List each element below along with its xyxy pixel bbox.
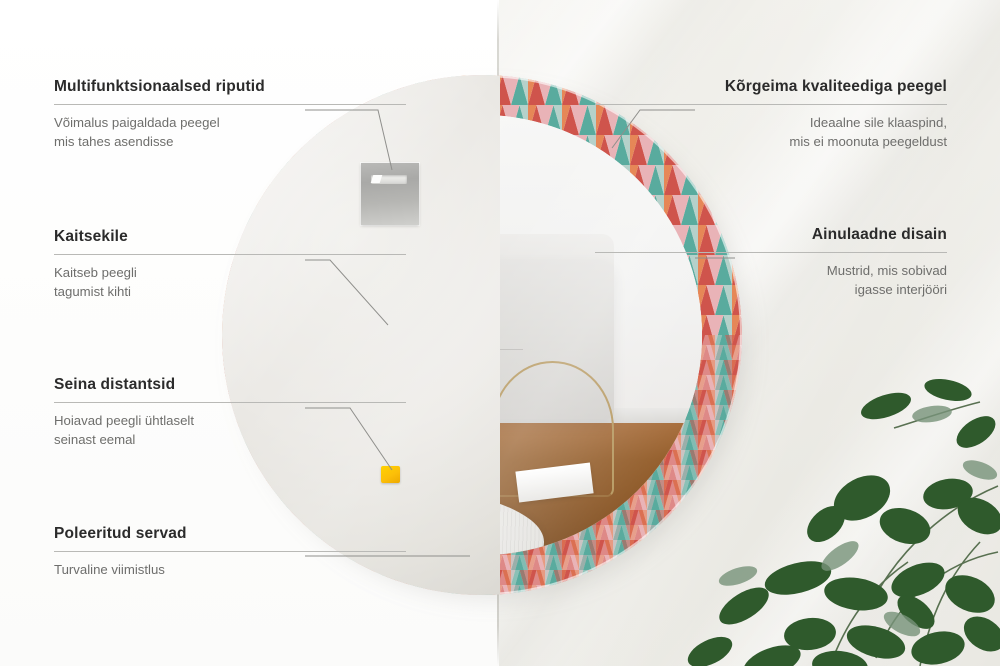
callout-description: Võimalus paigaldada peegel mis tahes ase… bbox=[54, 114, 406, 151]
wall-spacer bbox=[381, 466, 400, 483]
callout-rule bbox=[54, 254, 406, 255]
keyhole-slot-icon bbox=[371, 175, 407, 184]
callout-wall-spacers: Seina distantsid Hoiavad peegli ühtlasel… bbox=[54, 376, 406, 449]
callout-description: Turvaline viimistlus bbox=[54, 561, 406, 580]
callout-description: Mustrid, mis sobivad igasse interjööri bbox=[595, 262, 947, 299]
callout-multifunction-hangers: Multifunktsionaalsed riputid Võimalus pa… bbox=[54, 78, 406, 151]
callout-description: Kaitseb peegli tagumist kihti bbox=[54, 264, 406, 301]
mirror-body bbox=[222, 75, 742, 595]
keyhole-hanger-plate bbox=[361, 163, 419, 225]
mirror-back-cover-left bbox=[222, 75, 500, 595]
callout-title: Seina distantsid bbox=[54, 376, 406, 394]
callout-description: Hoiavad peegli ühtlaselt seinast eemal bbox=[54, 412, 406, 449]
callout-unique-design: Ainulaadne disain Mustrid, mis sobivad i… bbox=[595, 226, 947, 299]
callout-protective-film: Kaitsekile Kaitseb peegli tagumist kihti bbox=[54, 228, 406, 301]
callout-rule bbox=[54, 551, 406, 552]
callout-title: Kaitsekile bbox=[54, 228, 406, 246]
callout-polished-edges: Poleeritud servad Turvaline viimistlus bbox=[54, 525, 406, 580]
callout-highest-quality-mirror: Kõrgeima kvaliteediga peegel Ideaalne si… bbox=[595, 78, 947, 151]
callout-title: Kõrgeima kvaliteediga peegel bbox=[595, 78, 947, 96]
callout-description: Ideaalne sile klaaspind, mis ei moonuta … bbox=[595, 114, 947, 151]
decorative-plant bbox=[680, 366, 1000, 666]
callout-rule bbox=[595, 252, 947, 253]
callout-title: Multifunktsionaalsed riputid bbox=[54, 78, 406, 96]
callout-rule bbox=[54, 104, 406, 105]
product-infographic: Multifunktsionaalsed riputid Võimalus pa… bbox=[0, 0, 1000, 666]
callout-rule bbox=[595, 104, 947, 105]
mirror-product bbox=[222, 75, 742, 595]
callout-title: Ainulaadne disain bbox=[595, 226, 947, 244]
callout-rule bbox=[54, 402, 406, 403]
callout-title: Poleeritud servad bbox=[54, 525, 406, 543]
